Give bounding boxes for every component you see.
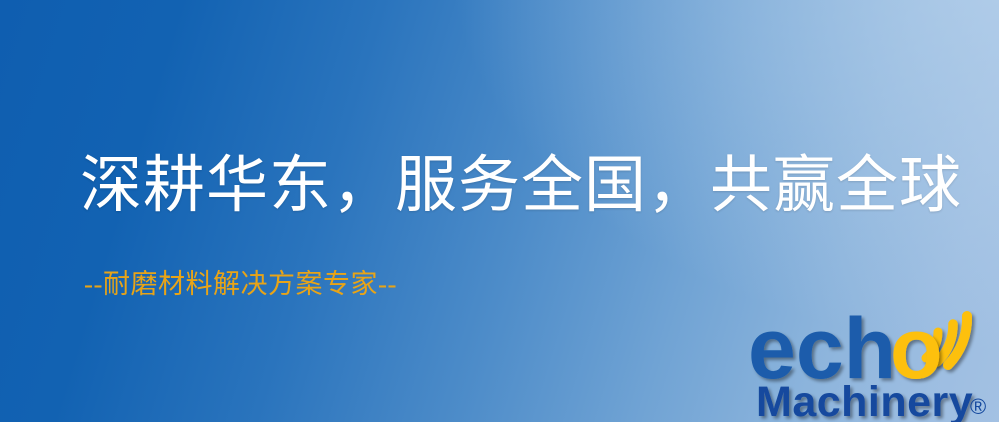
logo-trademark: ® [970,394,986,419]
promo-banner: 深耕华东，服务全国，共赢全球 --耐磨材料解决方案专家-- ech o Mach… [0,0,999,422]
logo-tagline: Machinery [756,378,973,422]
banner-subtitle: --耐磨材料解决方案专家-- [84,262,397,301]
banner-headline: 深耕华东，服务全国，共赢全球 [80,152,962,221]
echo-machinery-logo: ech o Machinery ® [748,292,999,422]
